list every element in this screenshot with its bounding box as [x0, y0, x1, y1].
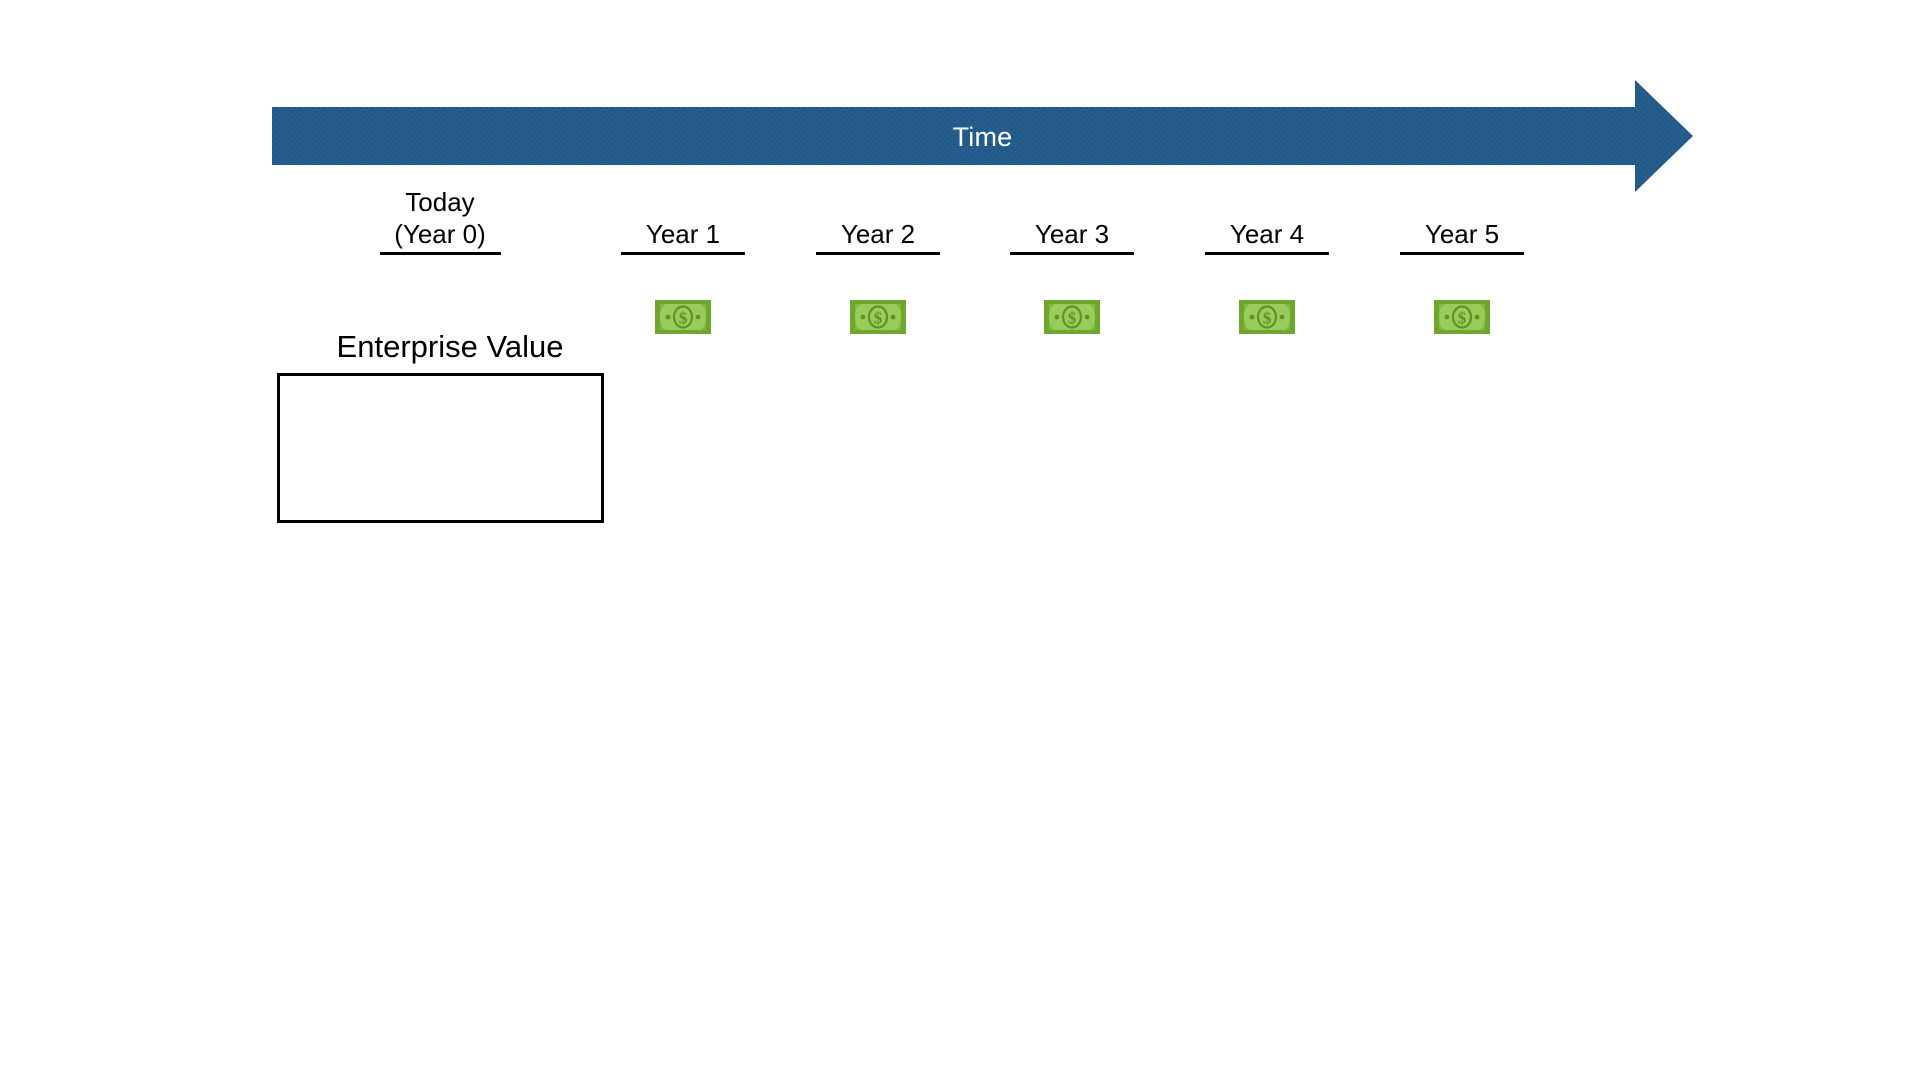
period-label-year-3: Year 3	[977, 218, 1167, 255]
svg-text:$: $	[679, 309, 688, 328]
period-label-year-2-text: Year 2	[783, 218, 973, 250]
enterprise-value-box[interactable]	[277, 373, 604, 523]
period-underline-year-5	[1400, 252, 1524, 255]
period-label-today-line1: Today	[340, 186, 540, 218]
svg-text:$: $	[874, 309, 883, 328]
period-underline-year-3	[1010, 252, 1134, 255]
period-underline-today	[380, 252, 501, 255]
period-label-year-5: Year 5	[1367, 218, 1557, 255]
dollar-banknote-icon: $	[1434, 300, 1490, 334]
svg-text:$: $	[1458, 309, 1467, 328]
svg-text:$: $	[1263, 309, 1272, 328]
enterprise-value-label: Enterprise Value	[280, 328, 620, 366]
period-label-year-5-text: Year 5	[1367, 218, 1557, 250]
dollar-banknote-icon: $	[1239, 300, 1295, 334]
time-arrow	[272, 80, 1693, 192]
period-label-year-3-text: Year 3	[977, 218, 1167, 250]
period-label-year-1: Year 1	[588, 218, 778, 255]
period-label-year-1-text: Year 1	[588, 218, 778, 250]
time-arrow-shape	[272, 80, 1693, 192]
period-label-year-4: Year 4	[1172, 218, 1362, 255]
period-label-year-4-text: Year 4	[1172, 218, 1362, 250]
enterprise-value-box-text	[280, 376, 601, 392]
period-label-year-2: Year 2	[783, 218, 973, 255]
dollar-banknote-icon: $	[655, 300, 711, 334]
period-underline-year-2	[816, 252, 940, 255]
period-label-today-line2: (Year 0)	[340, 218, 540, 250]
period-underline-year-4	[1205, 252, 1329, 255]
period-label-today: Today (Year 0)	[340, 186, 540, 255]
period-underline-year-1	[621, 252, 745, 255]
dollar-banknote-icon: $	[850, 300, 906, 334]
slide-canvas: Time Today (Year 0) Year 1 Year 2 Year 3…	[0, 0, 1920, 1080]
svg-text:$: $	[1068, 309, 1077, 328]
dollar-banknote-icon: $	[1044, 300, 1100, 334]
